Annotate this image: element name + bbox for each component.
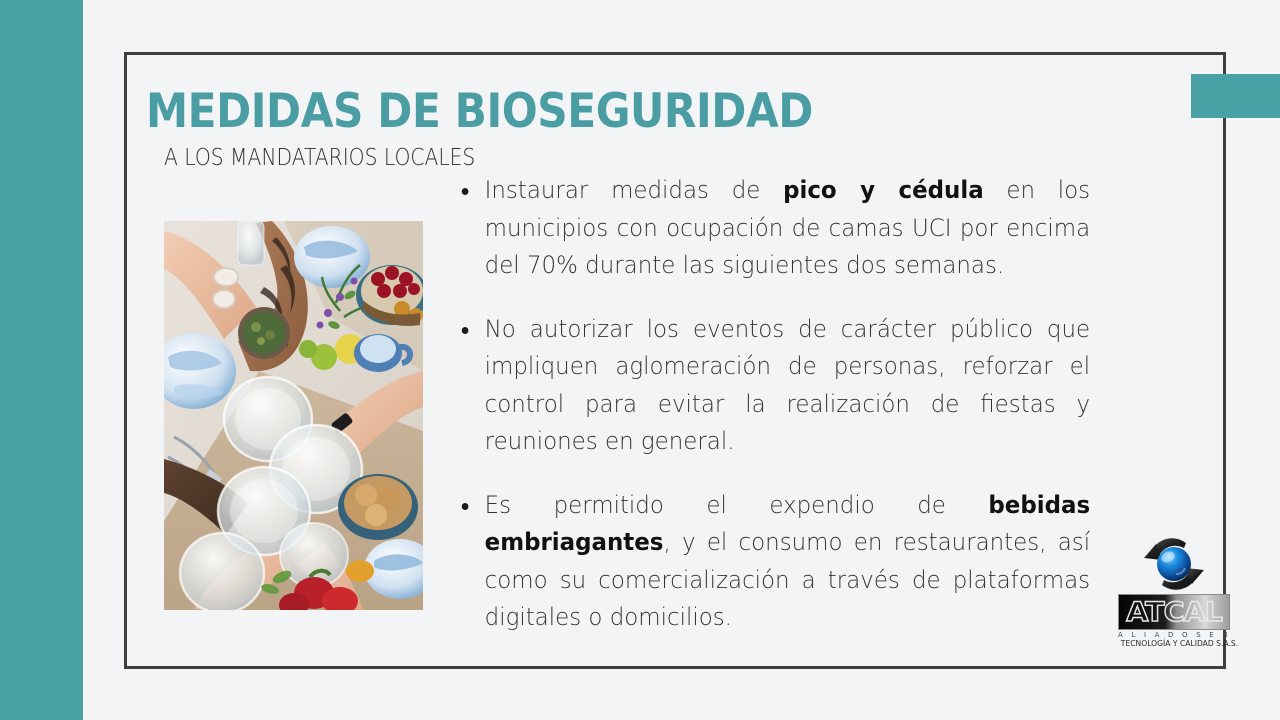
atcal-logo: ATCAL A L I A D O S E N TECNOLOGÍA Y CAL…	[1118, 532, 1230, 648]
bullet-dot-icon	[462, 503, 469, 510]
bullet-text-2: No autorizar los eventos de carácter púb…	[485, 315, 1090, 456]
left-teal-sidebar	[0, 0, 83, 720]
toast-photo-illustration	[164, 221, 423, 610]
page-title: MEDIDAS DE BIOSEGURIDAD	[146, 84, 813, 140]
list-item: Instaurar medidas de pico y cédula en lo…	[456, 172, 1090, 285]
atcal-tagline-line-1: A L I A D O S E N	[1118, 631, 1230, 639]
atcal-wordmark: ATCAL	[1126, 599, 1222, 626]
top-right-teal-accent-block	[1191, 74, 1280, 118]
bullet-dot-icon	[462, 188, 469, 195]
page-subtitle: A LOS MANDATARIOS LOCALES	[164, 144, 475, 173]
toast-photo	[164, 221, 423, 610]
atcal-sphere-arrows-icon	[1132, 532, 1216, 596]
bullet-list: Instaurar medidas de pico y cédula en lo…	[456, 172, 1120, 637]
list-item: No autorizar los eventos de carácter púb…	[456, 311, 1090, 461]
bullet-dot-icon	[462, 327, 469, 334]
atcal-wordmark-box: ATCAL	[1118, 594, 1230, 630]
list-item: Es permitido el expendio de bebidas embr…	[456, 487, 1090, 637]
atcal-tagline-line-2: TECNOLOGÍA Y CALIDAD S.A.S.	[1121, 639, 1227, 648]
bullet-text-3: Es permitido el expendio de bebidas embr…	[485, 491, 1090, 632]
bullet-text-1: Instaurar medidas de pico y cédula en lo…	[485, 176, 1090, 279]
slide-canvas: MEDIDAS DE BIOSEGURIDAD A LOS MANDATARIO…	[0, 0, 1280, 720]
